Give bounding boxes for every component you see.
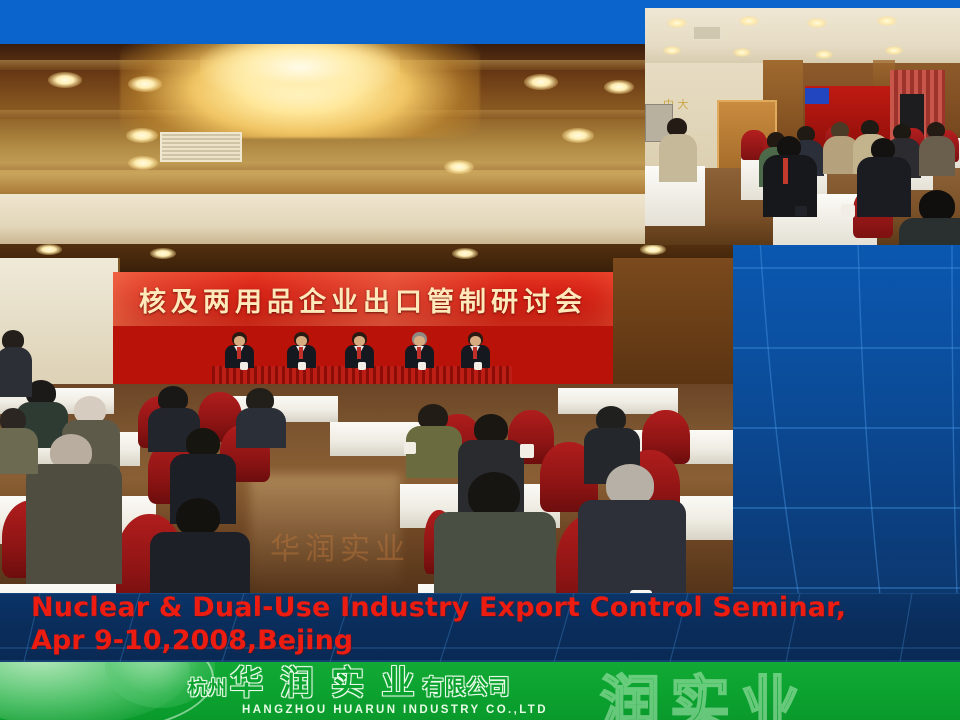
presentation-slide: 核及两用品企业出口管制研讨会 华润实业: [0, 0, 960, 720]
company-name-english: HANGZHOU HUARUN INDUSTRY CO.,LTD: [188, 704, 658, 716]
company-name-main: 华 润 实 业: [230, 666, 417, 699]
company-footer: 润实业 杭州 华 润 实 业 有限公司 HANGZHOU HUARUN INDU…: [0, 662, 960, 720]
seminar-hall-wide-photo: 核及两用品企业出口管制研讨会 华润实业: [0, 44, 733, 593]
title-line-1: Nuclear & Dual-Use Industry Export Contr…: [31, 593, 941, 624]
event-banner: 核及两用品企业出口管制研讨会: [113, 272, 613, 326]
seminar-attendees-photo: 中 大: [645, 8, 960, 245]
event-banner-text: 核及两用品企业出口管制研讨会: [113, 272, 613, 326]
company-name-suffix: 有限公司: [422, 677, 510, 698]
footer-arc-decoration: [0, 662, 214, 720]
company-name-prefix: 杭州: [188, 679, 228, 698]
title-band: Nuclear & Dual-Use Industry Export Contr…: [0, 593, 960, 662]
title-line-2: Apr 9-10,2008,Bejing: [31, 624, 941, 657]
company-logo: 杭州 华 润 实 业 有限公司 HANGZHOU HUARUN INDUSTRY…: [188, 666, 658, 716]
page-title: Nuclear & Dual-Use Industry Export Contr…: [31, 593, 941, 657]
